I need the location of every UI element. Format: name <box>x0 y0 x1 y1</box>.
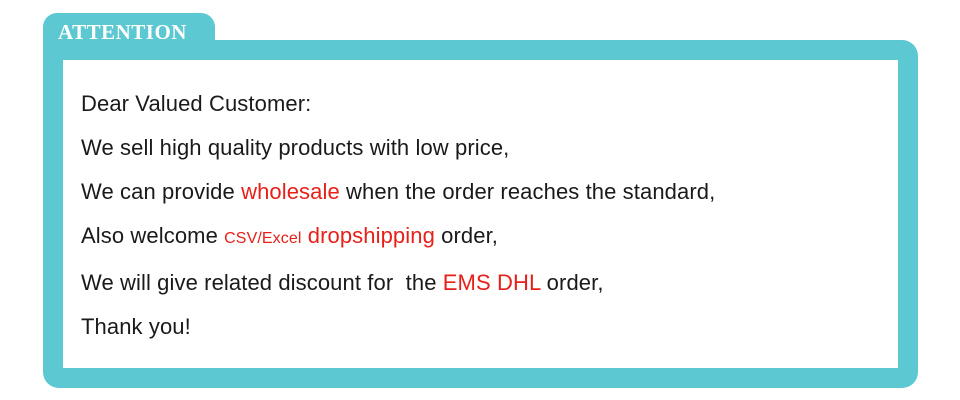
notice-text-segment: We will give related discount for the <box>81 270 443 295</box>
notice-text-segment: We can provide <box>81 179 241 204</box>
notice-text-segment: Also welcome <box>81 223 224 248</box>
notice-line-quality: We sell high quality products with low p… <box>81 126 898 170</box>
notice-tab-label: ATTENTION <box>58 19 187 45</box>
notice-text-segment: Thank you! <box>81 314 191 339</box>
notice-tab: ATTENTION <box>43 13 215 53</box>
notice-text-segment: EMS DHL <box>443 270 541 295</box>
notice-line-shipping-discount: We will give related discount for the EM… <box>81 261 898 305</box>
notice-text-segment: order, <box>435 223 498 248</box>
notice-text-segment: wholesale <box>241 179 340 204</box>
notice-line-dropshipping: Also welcome CSV/Excel dropshipping orde… <box>81 214 898 261</box>
notice-text-block: Dear Valued Customer:We sell high qualit… <box>81 82 898 349</box>
notice-text-segment: CSV/Excel <box>224 230 301 247</box>
notice-line-thanks: Thank you! <box>81 305 898 349</box>
notice-text-segment: dropshipping <box>308 223 435 248</box>
notice-line-wholesale: We can provide wholesale when the order … <box>81 170 898 214</box>
notice-line-greeting: Dear Valued Customer: <box>81 82 898 126</box>
notice-text-segment: order, <box>540 270 603 295</box>
notice-text-segment: when the order reaches the standard, <box>340 179 716 204</box>
notice-text-segment: We sell high quality products with low p… <box>81 135 509 160</box>
notice-body: Dear Valued Customer:We sell high qualit… <box>63 60 898 368</box>
attention-notice-banner: ATTENTION Dear Valued Customer:We sell h… <box>0 0 960 400</box>
notice-text-segment: Dear Valued Customer: <box>81 91 311 116</box>
